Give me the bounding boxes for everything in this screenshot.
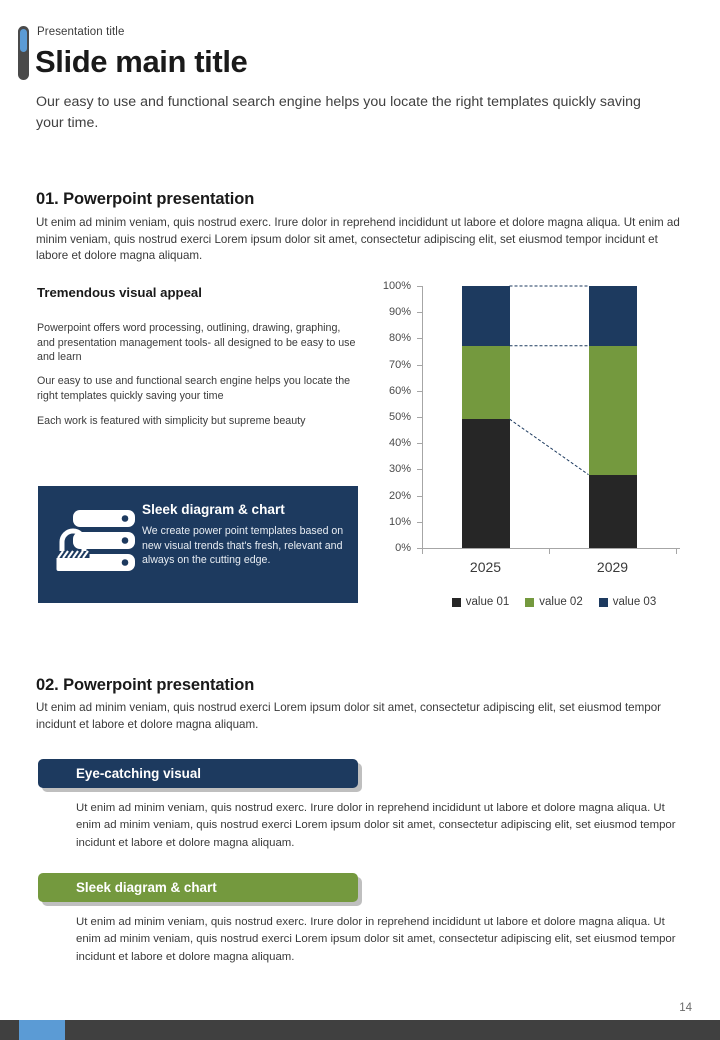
banner-body-1: Ut enim ad minim veniam, quis nostrud ex… xyxy=(76,800,688,852)
chart-bar-segment[interactable] xyxy=(589,286,637,346)
chart-y-tick-label: 40% xyxy=(389,437,411,449)
column-paragraph-3: Each work is featured with simplicity bu… xyxy=(37,414,357,429)
chart-bar[interactable] xyxy=(462,286,510,548)
slide-subtitle: Our easy to use and functional search en… xyxy=(36,92,661,134)
banner-label-2: Sleek diagram & chart xyxy=(76,880,217,895)
chart-y-tick-label: 50% xyxy=(389,411,411,423)
chart-y-tick-label: 80% xyxy=(389,332,411,344)
page-number: 14 xyxy=(679,1002,692,1014)
chart-y-tick-label: 10% xyxy=(389,516,411,528)
banner-label-1: Eye-catching visual xyxy=(76,766,201,781)
chart-legend-item[interactable]: value 03 xyxy=(599,596,656,608)
chart-bar-segment[interactable] xyxy=(462,419,510,548)
chart-y-tick-label: 60% xyxy=(389,385,411,397)
chart-legend-item[interactable]: value 01 xyxy=(452,596,509,608)
chart-bar[interactable] xyxy=(589,286,637,548)
chart-x-axis xyxy=(422,548,680,549)
chart-bar-segment[interactable] xyxy=(462,286,510,346)
column-paragraph-2: Our easy to use and functional search en… xyxy=(37,374,357,403)
chart-y-tick-label: 30% xyxy=(389,463,411,475)
chart-y-tick-label: 20% xyxy=(389,490,411,502)
chart-legend-swatch xyxy=(525,598,534,607)
slide: Presentation title Slide main title Our … xyxy=(0,0,720,1040)
banner-body-2: Ut enim ad minim veniam, quis nostrud ex… xyxy=(76,914,688,966)
page-title: Slide main title xyxy=(35,44,247,80)
column-heading-visual-appeal: Tremendous visual appeal xyxy=(37,285,202,300)
section-one-heading: 01. Powerpoint presentation xyxy=(36,190,254,209)
chart-legend-label: value 03 xyxy=(613,596,656,608)
stacked-bar-chart[interactable]: 0%10%20%30%40%50%60%70%80%90%100% 202520… xyxy=(384,278,684,618)
banner-sleek-diagram-chart[interactable]: Sleek diagram & chart xyxy=(38,873,358,902)
section-two-body: Ut enim ad minim veniam, quis nostrud ex… xyxy=(36,700,691,733)
chart-bar-segment[interactable] xyxy=(462,346,510,419)
accent-pill-decoration xyxy=(18,26,29,80)
banner-eye-catching-visual[interactable]: Eye-catching visual xyxy=(38,759,358,788)
chart-plot-area xyxy=(422,286,676,548)
chart-x-tick xyxy=(676,548,677,554)
chart-legend-label: value 01 xyxy=(466,596,509,608)
chart-x-tick-label: 2025 xyxy=(446,559,526,575)
accent-pill-fill xyxy=(20,29,27,52)
chart-y-tick-label: 90% xyxy=(389,306,411,318)
chart-y-tick-label: 100% xyxy=(383,280,411,292)
footer-bar xyxy=(0,1020,720,1040)
chart-legend-label: value 02 xyxy=(539,596,582,608)
feature-card-sleek-diagram[interactable]: Sleek diagram & chart We create power po… xyxy=(38,486,358,603)
chart-x-tick xyxy=(549,548,550,554)
slide-header: Presentation title Slide main title Our … xyxy=(0,0,720,150)
section-two-heading: 02. Powerpoint presentation xyxy=(36,676,254,695)
chart-y-tick-label: 0% xyxy=(395,542,411,554)
section-one-body: Ut enim ad minim veniam, quis nostrud ex… xyxy=(36,215,686,265)
presentation-title-eyebrow: Presentation title xyxy=(37,26,124,38)
chart-legend-swatch xyxy=(452,598,461,607)
chart-legend-item[interactable]: value 02 xyxy=(525,596,582,608)
footer-accent-block xyxy=(19,1020,65,1040)
column-paragraph-1: Powerpoint offers word processing, outli… xyxy=(37,321,357,365)
chart-legend-swatch xyxy=(599,598,608,607)
server-lock-icon xyxy=(56,508,138,578)
chart-x-tick xyxy=(422,548,423,554)
feature-card-text: We create power point templates based on… xyxy=(142,524,347,568)
chart-bar-segment[interactable] xyxy=(589,475,637,548)
chart-y-tick-label: 70% xyxy=(389,359,411,371)
chart-bar-segment[interactable] xyxy=(589,346,637,475)
feature-card-title: Sleek diagram & chart xyxy=(142,502,285,517)
chart-x-tick-label: 2029 xyxy=(573,559,653,575)
chart-legend[interactable]: value 01value 02value 03 xyxy=(429,596,679,608)
